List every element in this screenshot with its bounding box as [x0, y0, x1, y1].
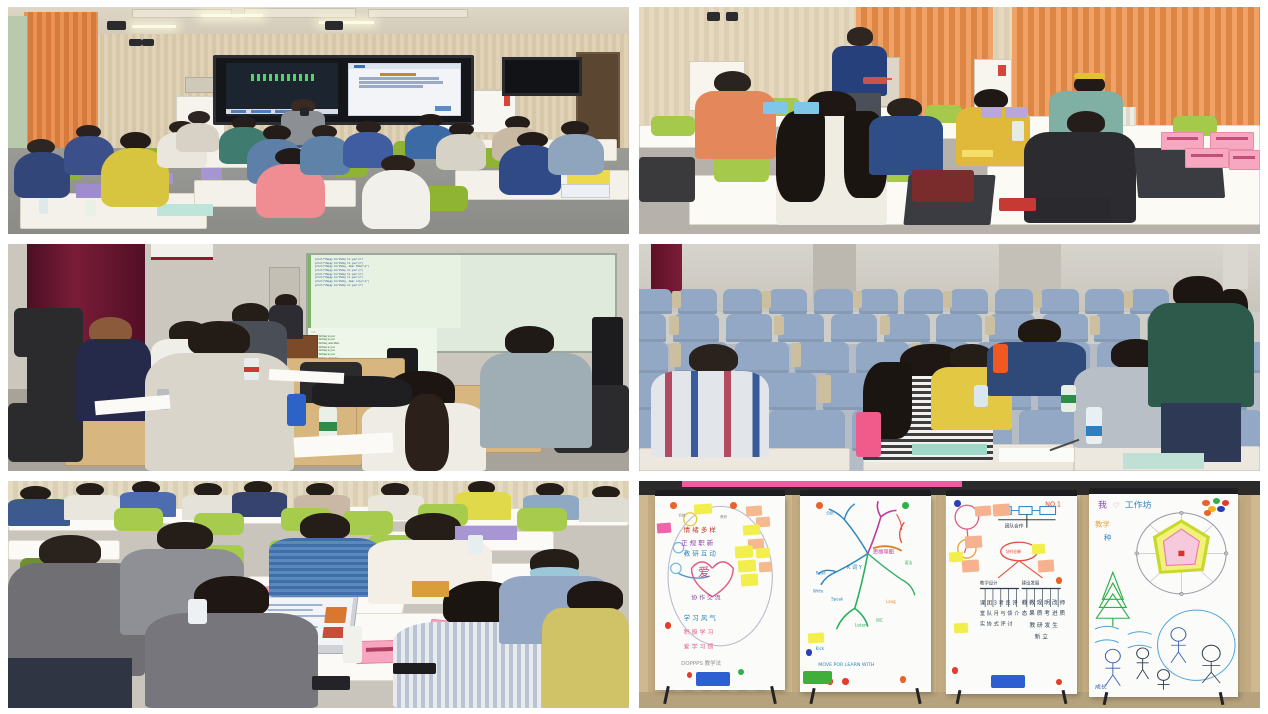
svg-text:教 研 发 生: 教 研 发 生	[1030, 621, 1059, 629]
svg-text:协 作 交 流: 协 作 交 流	[691, 593, 720, 601]
name-card	[1185, 148, 1228, 168]
water-bottle	[343, 626, 362, 662]
poster-sheet-2: 思维导图 分析 Read Write Speak Listen 词汇 Lang …	[800, 496, 930, 692]
chair-dark	[639, 157, 695, 202]
participant-body	[176, 123, 219, 153]
participant-body	[542, 608, 629, 708]
whiteboard-marker	[504, 95, 510, 106]
participant-head	[1018, 319, 1061, 344]
table-tent-blue	[763, 102, 788, 113]
hairband	[1074, 73, 1105, 79]
green-folder	[912, 444, 987, 455]
sticky-note	[759, 561, 773, 572]
sticky-note	[657, 523, 672, 534]
bg-person-body	[8, 499, 70, 526]
left-window	[8, 16, 27, 157]
svg-text:教 教 现 明 改 师: 教 教 现 明 改 师	[1022, 598, 1066, 606]
poster-sheet-3: 教学设计 建设发展 团队合作 协作创新 NO.1 课 团 3 考 反 评 堂 队…	[946, 496, 1076, 694]
table-tent-purple	[981, 107, 1003, 118]
participant-ponytail	[405, 394, 448, 471]
svg-text:我: 我	[1098, 500, 1107, 510]
facilitator-body	[1148, 303, 1254, 407]
participant-body	[480, 353, 592, 448]
svg-text:Read: Read	[816, 571, 826, 576]
photo-panel-lecture-hall[interactable]	[639, 244, 1260, 471]
water-bottle	[39, 198, 48, 214]
orange-bottle	[993, 344, 1009, 374]
binder	[561, 184, 611, 198]
wall-speaker	[707, 12, 719, 21]
photo-panel-flipchart-gallery[interactable]: 爱 自我 情绪 教研 情 绪 多 样 正 规 职 新 教 研 互 动 协 作 交…	[639, 481, 1260, 708]
notebook	[412, 581, 449, 597]
trainer-head	[847, 27, 873, 45]
ceiling-light	[132, 25, 175, 28]
svg-text:教 研 互 动: 教 研 互 动	[683, 549, 716, 558]
poster-radar-chart: 我 ♡ 工作坊 教学 种	[1089, 494, 1238, 697]
sticky-note	[1037, 559, 1053, 572]
flipchart-easel-4[interactable]: 我 ♡ 工作坊 教学 种	[1089, 488, 1238, 697]
participant-hair	[776, 111, 826, 202]
flipchart-easel-2[interactable]: 思维导图 分析 Read Write Speak Listen 词汇 Lang …	[800, 490, 930, 692]
green-block	[803, 671, 832, 685]
poster-sheet-4: 我 ♡ 工作坊 教学 种	[1089, 494, 1238, 697]
svg-text:积 极 学 习: 积 极 学 习	[683, 628, 713, 636]
svg-text:MOVE POR LEARN WITH: MOVE POR LEARN WITH	[819, 662, 875, 668]
svg-text:学 习 风 气: 学 习 风 气	[683, 613, 716, 622]
table-tent-blue	[794, 102, 819, 113]
table-tent-purple	[486, 526, 517, 540]
chair	[651, 116, 694, 136]
magnet	[816, 502, 823, 509]
svg-text:团队合作: 团队合作	[1005, 523, 1024, 530]
smartphone	[393, 663, 436, 674]
table-tent	[76, 184, 101, 198]
sticky-note	[954, 623, 969, 634]
floor-speaker	[592, 317, 623, 394]
participant-body	[300, 136, 350, 175]
svg-text:思维导图: 思维导图	[873, 548, 894, 556]
wall-column	[1223, 244, 1248, 289]
participant-body	[145, 613, 319, 708]
svg-text:♡: ♡	[1113, 501, 1120, 510]
sticky-note	[740, 573, 758, 586]
participant-body	[695, 91, 776, 159]
participant-body	[436, 134, 486, 170]
water-bottle	[188, 599, 207, 624]
svg-text:成长: 成长	[1095, 683, 1107, 691]
sticky-note	[962, 150, 993, 157]
name-card	[1229, 150, 1260, 170]
svg-text:态 果 质 考 进 质: 态 果 质 考 进 质	[1022, 609, 1066, 617]
bg-person-body	[579, 497, 629, 522]
water-bottle	[1012, 121, 1024, 141]
right-projection-screen	[348, 63, 460, 116]
chair	[517, 508, 567, 531]
svg-text:Speak: Speak	[832, 597, 845, 602]
handheld-device	[863, 77, 888, 84]
participant-body	[14, 152, 70, 197]
water-bottle	[974, 385, 988, 408]
sticky-note	[756, 548, 771, 559]
magnet	[842, 678, 849, 685]
camera	[312, 676, 349, 690]
bg-person-body	[64, 495, 120, 520]
sticky-note	[693, 503, 712, 514]
output-highlight: Mike!	[334, 342, 340, 345]
svg-text:新 立: 新 立	[1035, 633, 1049, 641]
chair	[114, 508, 164, 531]
svg-text:教学: 教学	[1095, 520, 1110, 529]
blue-label-bottle	[1086, 407, 1102, 443]
svg-text:词汇: 词汇	[876, 618, 884, 623]
projection-screen: print("Happy birthday to you!\n") print(…	[306, 253, 617, 353]
magnet	[952, 667, 959, 674]
notebook	[999, 448, 1074, 462]
magnet	[670, 502, 677, 509]
svg-text:Kick: Kick	[816, 646, 825, 651]
flipchart-easel-3[interactable]: 教学设计 建设发展 团队合作 协作创新 NO.1 课 团 3 考 反 评 堂 队…	[946, 490, 1076, 694]
participant-head	[157, 522, 213, 552]
sticky-note	[743, 525, 761, 536]
svg-text:Lang: Lang	[887, 599, 897, 604]
photo-panel-python-seminar[interactable]: print("Happy birthday to you!\n") print(…	[8, 244, 629, 471]
left-projection-screen	[226, 63, 338, 116]
code-pane: print("Happy birthday to you!\n") print(…	[308, 255, 461, 328]
participant-head	[505, 326, 555, 356]
ceiling-panel	[368, 9, 467, 18]
svg-text:K 词 Y: K 词 Y	[847, 563, 863, 571]
sticky-note	[949, 551, 964, 562]
blue-block	[696, 672, 730, 686]
svg-text:爱: 爱	[698, 565, 710, 579]
svg-text:建设发展: 建设发展	[1022, 580, 1040, 587]
trainer-torso	[832, 46, 888, 96]
svg-text:协作创新: 协作创新	[1006, 549, 1022, 554]
magnet	[902, 502, 909, 509]
svg-text:Listen: Listen	[855, 623, 867, 628]
water-bottle	[86, 200, 96, 216]
table-tent-purple	[1005, 107, 1027, 118]
svg-text:种: 种	[1104, 533, 1111, 542]
flipchart-easel-1[interactable]: 爱 自我 情绪 教研 情 绪 多 样 正 规 职 新 教 研 互 动 协 作 交…	[655, 490, 785, 690]
sticky-note	[962, 559, 980, 572]
sticky-note	[975, 506, 991, 517]
projector	[325, 21, 344, 30]
svg-text:情 绪 多 样: 情 绪 多 样	[683, 525, 716, 534]
sticky-note	[738, 559, 757, 572]
magnet	[806, 649, 813, 656]
participant-body	[269, 538, 381, 597]
wall-speaker	[726, 12, 738, 21]
photo-panel-group-work[interactable]	[8, 481, 629, 708]
notebook	[157, 204, 213, 215]
table-tent	[201, 168, 223, 179]
water-bottle	[244, 358, 260, 381]
svg-text:NO.1: NO.1	[1045, 501, 1061, 509]
participant-plaid-shirt	[651, 371, 769, 457]
green-bottle	[1061, 385, 1076, 412]
green-folder	[1123, 453, 1204, 469]
svg-text:实 协 式 评 讨: 实 协 式 评 讨	[980, 620, 1013, 628]
wall-speaker	[129, 39, 141, 46]
sticky-note	[964, 535, 982, 548]
water-bottle	[468, 535, 484, 553]
magnet	[730, 502, 737, 509]
svg-text:正 规 职 新: 正 规 职 新	[681, 538, 714, 547]
blue-thermos	[287, 394, 306, 426]
photo-collage: print("Happy birthday to you!\n") print(…	[0, 0, 1268, 714]
projection-green-text	[251, 74, 314, 80]
backpack	[912, 170, 974, 202]
svg-text:堂 队 月 与 馈 介: 堂 队 月 与 馈 介	[980, 609, 1020, 617]
poster-sheet-1: 爱 自我 情绪 教研 情 绪 多 样 正 规 职 新 教 研 互 动 协 作 交…	[655, 496, 785, 690]
photo-panel-classroom-presenter[interactable]	[8, 7, 629, 234]
poster-mindmap: 思维导图 分析 Read Write Speak Listen 词汇 Lang …	[800, 496, 930, 692]
notebook-black	[1036, 198, 1111, 218]
participant-head	[405, 513, 461, 543]
participant-head	[300, 513, 350, 540]
svg-text:Write: Write	[813, 589, 824, 594]
stacked-chair	[8, 403, 83, 462]
pencil-case	[999, 198, 1036, 212]
stage-drape	[651, 244, 682, 294]
sticky-note	[1032, 543, 1046, 554]
photo-panel-note-taking[interactable]	[639, 7, 1260, 234]
svg-text:DOPPPS 教学法: DOPPPS 教学法	[681, 659, 722, 667]
projector	[107, 21, 126, 30]
poster-drawing-3: 教学设计 建设发展 团队合作 协作创新 NO.1 课 团 3 考 反 评 堂 队…	[946, 496, 1076, 694]
sticky-note	[745, 505, 761, 516]
microphone	[300, 107, 309, 116]
svg-text:教研: 教研	[720, 514, 727, 519]
pink-thermos	[856, 412, 881, 457]
chair	[343, 511, 393, 536]
pink-banner	[682, 481, 961, 487]
svg-text:课 团 3 考 反 评: 课 团 3 考 反 评	[980, 598, 1018, 606]
code-line: print("Happy birthday to you!\n")	[315, 284, 459, 288]
participant-head	[689, 344, 739, 374]
sticky-note	[735, 546, 754, 559]
svg-text:工作坊: 工作坊	[1125, 500, 1152, 510]
svg-text:爱 学 习 惯: 爱 学 习 惯	[683, 643, 713, 651]
blue-block	[991, 675, 1025, 689]
participant-head	[714, 71, 751, 94]
participant-head	[1067, 111, 1104, 134]
magnet	[954, 500, 961, 507]
participant-legs	[8, 658, 132, 708]
ceiling-light	[201, 14, 263, 18]
wall-tv	[502, 57, 583, 96]
participant-body	[869, 116, 944, 175]
svg-text:分析: 分析	[827, 510, 835, 515]
participant-body	[362, 170, 430, 229]
wall-speaker	[142, 39, 154, 46]
svg-text:语法: 语法	[905, 560, 913, 565]
sticky-note	[808, 633, 824, 644]
chair	[424, 186, 467, 211]
wall-banner	[151, 244, 213, 260]
sticky-note	[993, 504, 1011, 517]
participant-body	[548, 134, 604, 175]
svg-text:情绪: 情绪	[678, 513, 685, 518]
svg-text:教学设计: 教学设计	[980, 580, 998, 587]
